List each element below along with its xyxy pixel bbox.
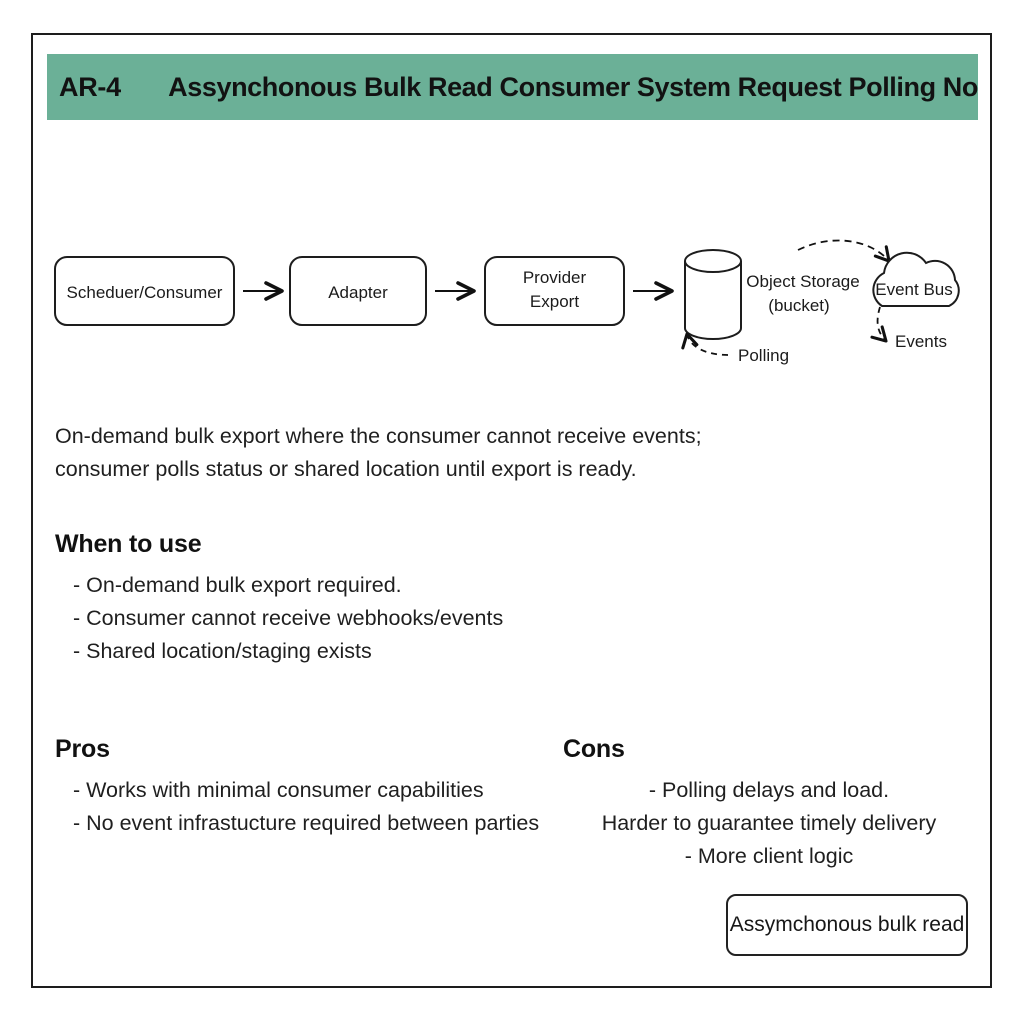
pros-item: - Works with minimal consumer capabiliti… [55, 774, 575, 807]
when-to-use-heading: When to use [55, 530, 755, 559]
pros-column: Pros - Works with minimal consumer capab… [55, 735, 575, 840]
pattern-name-tag-label: Assymchonous bulk read [730, 913, 965, 937]
diagram-canvas: Scheduer/Consumer Adapter Provider Expor… [33, 195, 994, 395]
arrow-eventbus-to-events-dashed [878, 307, 886, 341]
description-line-1: On-demand bulk export where the consumer… [55, 420, 795, 453]
card-id-label: AR-4 [59, 72, 168, 103]
pros-item: - No event infrastucture required betwee… [55, 807, 575, 840]
object-storage-label-line2: (bucket) [768, 296, 829, 315]
event-bus-label: Event Bus [875, 280, 953, 299]
when-to-use-section: When to use - On-demand bulk export requ… [55, 530, 755, 668]
when-to-use-item: - Shared location/staging exists [55, 635, 755, 668]
cons-item: - Polling delays and load. [563, 774, 975, 807]
object-storage-label-line1: Object Storage [746, 272, 859, 291]
when-to-use-item: - Consumer cannot receive webhooks/event… [55, 602, 755, 635]
cons-item: Harder to guarantee timely delivery [563, 807, 975, 840]
arrow-storage-to-eventbus-dashed [798, 240, 889, 261]
scheduler-label: Scheduer/Consumer [67, 283, 223, 302]
diagram-node-scheduler: Scheduer/Consumer [55, 257, 234, 325]
cons-heading: Cons [563, 735, 975, 764]
polling-edge-label: Polling [738, 346, 789, 365]
diagram-node-provider-export: Provider Export [485, 257, 624, 325]
architecture-diagram: Scheduer/Consumer Adapter Provider Expor… [33, 195, 994, 395]
description-line-2: consumer polls status or shared location… [55, 453, 795, 486]
cons-column: Cons - Polling delays and load. Harder t… [563, 735, 975, 873]
pros-heading: Pros [55, 735, 575, 764]
adapter-label: Adapter [328, 283, 388, 302]
diagram-node-event-bus: Event Bus [873, 253, 958, 306]
diagram-node-adapter: Adapter [290, 257, 426, 325]
pattern-description: On-demand bulk export where the consumer… [55, 420, 795, 486]
cons-item: - More client logic [563, 840, 975, 873]
card-header-band: AR-4 Assynchonous Bulk Read Consumer Sys… [47, 54, 978, 120]
card-title: Assynchonous Bulk Read Consumer System R… [168, 72, 978, 103]
when-to-use-item: - On-demand bulk export required. [55, 569, 755, 602]
pattern-name-tag: Assymchonous bulk read [726, 894, 968, 956]
pattern-card-frame: AR-4 Assynchonous Bulk Read Consumer Sys… [31, 33, 992, 988]
provider-export-label-line2: Export [530, 292, 579, 311]
diagram-node-object-storage: Object Storage (bucket) [685, 250, 860, 339]
provider-export-label-line1: Provider [523, 268, 587, 287]
object-storage-cylinder-top [685, 250, 741, 272]
events-edge-label: Events [895, 332, 947, 351]
